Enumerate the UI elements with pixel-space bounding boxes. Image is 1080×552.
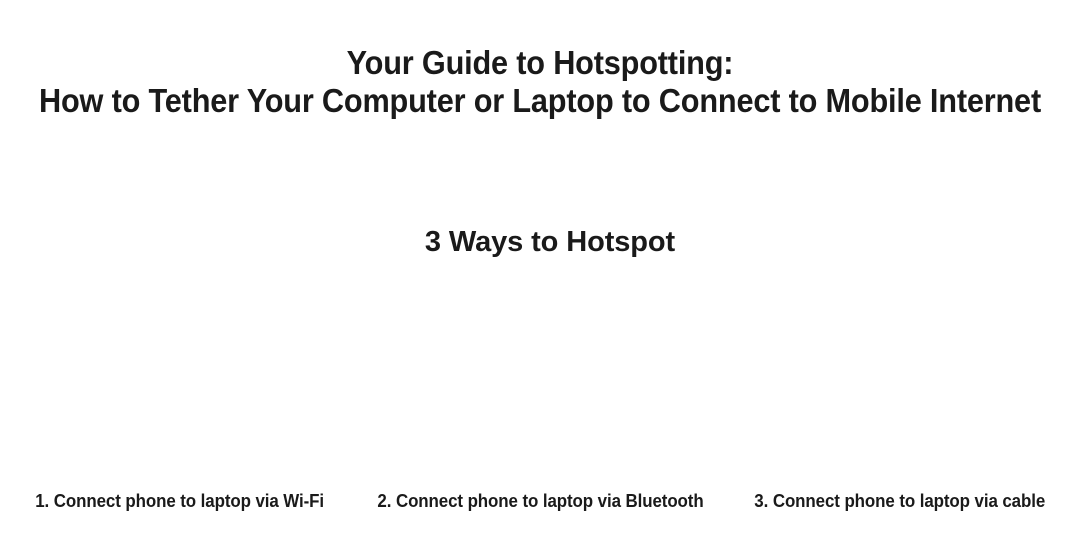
method-caption-row: 1. Connect phone to laptop via Wi-Fi 2. … [0,488,1080,514]
illustration-area [0,282,1080,480]
section-heading-label: 3 Ways to Hotspot [425,224,675,260]
method-caption-wifi: 1. Connect phone to laptop via Wi-Fi [36,489,325,513]
page-title-line-1: Your Guide to Hotspotting: [38,44,1042,82]
page-title-line-2: How to Tether Your Computer or Laptop to… [38,82,1042,120]
method-caption-cell-2: 2. Connect phone to laptop via Bluetooth [360,488,720,514]
section-heading: 3 Ways to Hotspot [0,224,1080,260]
illustration-slot-wifi [0,282,360,480]
method-caption-bluetooth: 2. Connect phone to laptop via Bluetooth [377,489,703,513]
infographic-page: Your Guide to Hotspotting: How to Tether… [0,0,1080,552]
method-caption-cable: 3. Connect phone to laptop via cable [755,489,1046,513]
illustration-slot-cable [720,282,1080,480]
method-caption-cell-1: 1. Connect phone to laptop via Wi-Fi [0,488,360,514]
method-caption-cell-3: 3. Connect phone to laptop via cable [720,488,1080,514]
page-title: Your Guide to Hotspotting: How to Tether… [0,44,1080,120]
illustration-slot-bluetooth [360,282,720,480]
